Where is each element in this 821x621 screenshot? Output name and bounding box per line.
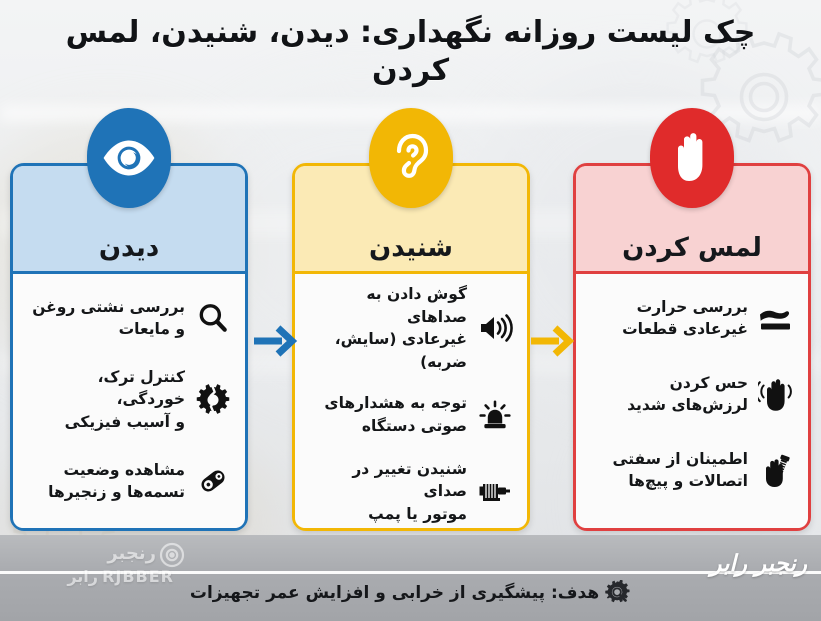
eye-icon — [87, 108, 171, 208]
logo-text-latin: RJBBER — [102, 567, 174, 586]
list-item-text: کنترل ترک، خوردگی، و آسیب فیزیکی — [25, 366, 185, 433]
card-title-hear: شنیدن — [369, 235, 453, 261]
belt-chain-icon — [193, 461, 233, 501]
hand-bolt-icon — [756, 450, 796, 490]
tire-mark-icon — [158, 541, 186, 569]
gear-crack-icon — [193, 380, 233, 420]
list-item-text: بررسی حرارت غیرعادی قطعات — [588, 296, 748, 341]
card-body-hear: گوش دادن به صداهای غیرعادی (سایش، ضربه) … — [295, 274, 527, 528]
list-item[interactable]: توجه به هشدارهای صوتی دستگاه — [307, 387, 515, 443]
magnifier-icon — [193, 298, 233, 338]
arrow-hear-to-touch — [529, 318, 577, 364]
logo-text-fa-bottom: رابر — [67, 567, 98, 586]
card-touch[interactable]: لمس کردن بررسی حرارت غیرعادی قطعات — [573, 163, 811, 531]
list-item-text: توجه به هشدارهای صوتی دستگاه — [307, 392, 467, 437]
company-logo[interactable]: رنجبر رابر RJBBER — [34, 541, 184, 603]
footer-goal-text: هدف: پیشگیری از خرابی و افزایش عمر تجهیز… — [190, 583, 599, 603]
arrow-see-to-hear — [252, 318, 300, 364]
brand-name-right: رنجبر رابر — [710, 551, 807, 577]
list-item-text: اطمینان از سفتی اتصالات و پیچ‌ها — [588, 448, 748, 493]
list-item[interactable]: اطمینان از سفتی اتصالات و پیچ‌ها — [588, 442, 796, 498]
footer-bar: رنجبر رابر RJBBER — [0, 535, 821, 621]
hand-vibration-icon — [756, 374, 796, 414]
ear-icon — [369, 108, 453, 208]
list-item[interactable]: بررسی نشتی روغن و مایعات — [25, 290, 233, 346]
logo-text-fa-top: رنجبر — [107, 543, 156, 564]
list-item-text: گوش دادن به صداهای غیرعادی (سایش، ضربه) — [307, 283, 467, 373]
list-item-text: مشاهده وضعیت تسمه‌ها و زنجیرها — [25, 459, 185, 504]
electric-motor-icon — [475, 471, 515, 511]
infographic-canvas: چک لیست روزانه نگهداری: دیدن، شنیدن، لمس… — [0, 0, 821, 621]
list-item[interactable]: بررسی حرارت غیرعادی قطعات — [588, 290, 796, 346]
page-title: چک لیست روزانه نگهداری: دیدن، شنیدن، لمس… — [0, 14, 821, 91]
card-body-see: بررسی نشتی روغن و مایعات کنترل ترک، خورد… — [13, 274, 245, 528]
list-item[interactable]: کنترل ترک، خوردگی، و آسیب فیزیکی — [25, 366, 233, 433]
list-item-text: بررسی نشتی روغن و مایعات — [25, 296, 185, 341]
card-hear[interactable]: شنیدن گوش دادن به صداهای غیرعادی (سایش، … — [292, 163, 530, 531]
card-see[interactable]: دیدن بررسی نشتی روغن و مایعات — [10, 163, 248, 531]
list-item-text: حس کردن لرزش‌های شدید — [588, 372, 748, 417]
gear-magnifier-icon — [605, 580, 631, 606]
hand-heat-icon — [756, 298, 796, 338]
card-body-touch: بررسی حرارت غیرعادی قطعات حس کردن لرزش‌ه… — [576, 274, 808, 528]
speaker-icon — [475, 308, 515, 348]
list-item-text: شنیدن تغییر در صدای موتور یا پمپ — [307, 458, 467, 525]
list-item[interactable]: گوش دادن به صداهای غیرعادی (سایش، ضربه) — [307, 290, 515, 367]
hand-icon — [650, 108, 734, 208]
card-title-see: دیدن — [99, 235, 159, 261]
list-item[interactable]: شنیدن تغییر در صدای موتور یا پمپ — [307, 463, 515, 520]
card-title-touch: لمس کردن — [622, 235, 762, 261]
brand-text: رنجبر رابر — [710, 551, 807, 577]
title-block: چک لیست روزانه نگهداری: دیدن، شنیدن، لمس… — [0, 14, 821, 91]
alarm-beacon-icon — [475, 395, 515, 435]
list-item[interactable]: حس کردن لرزش‌های شدید — [588, 366, 796, 422]
cards-row: دیدن بررسی نشتی روغن و مایعات — [0, 163, 821, 531]
list-item[interactable]: مشاهده وضعیت تسمه‌ها و زنجیرها — [25, 453, 233, 509]
